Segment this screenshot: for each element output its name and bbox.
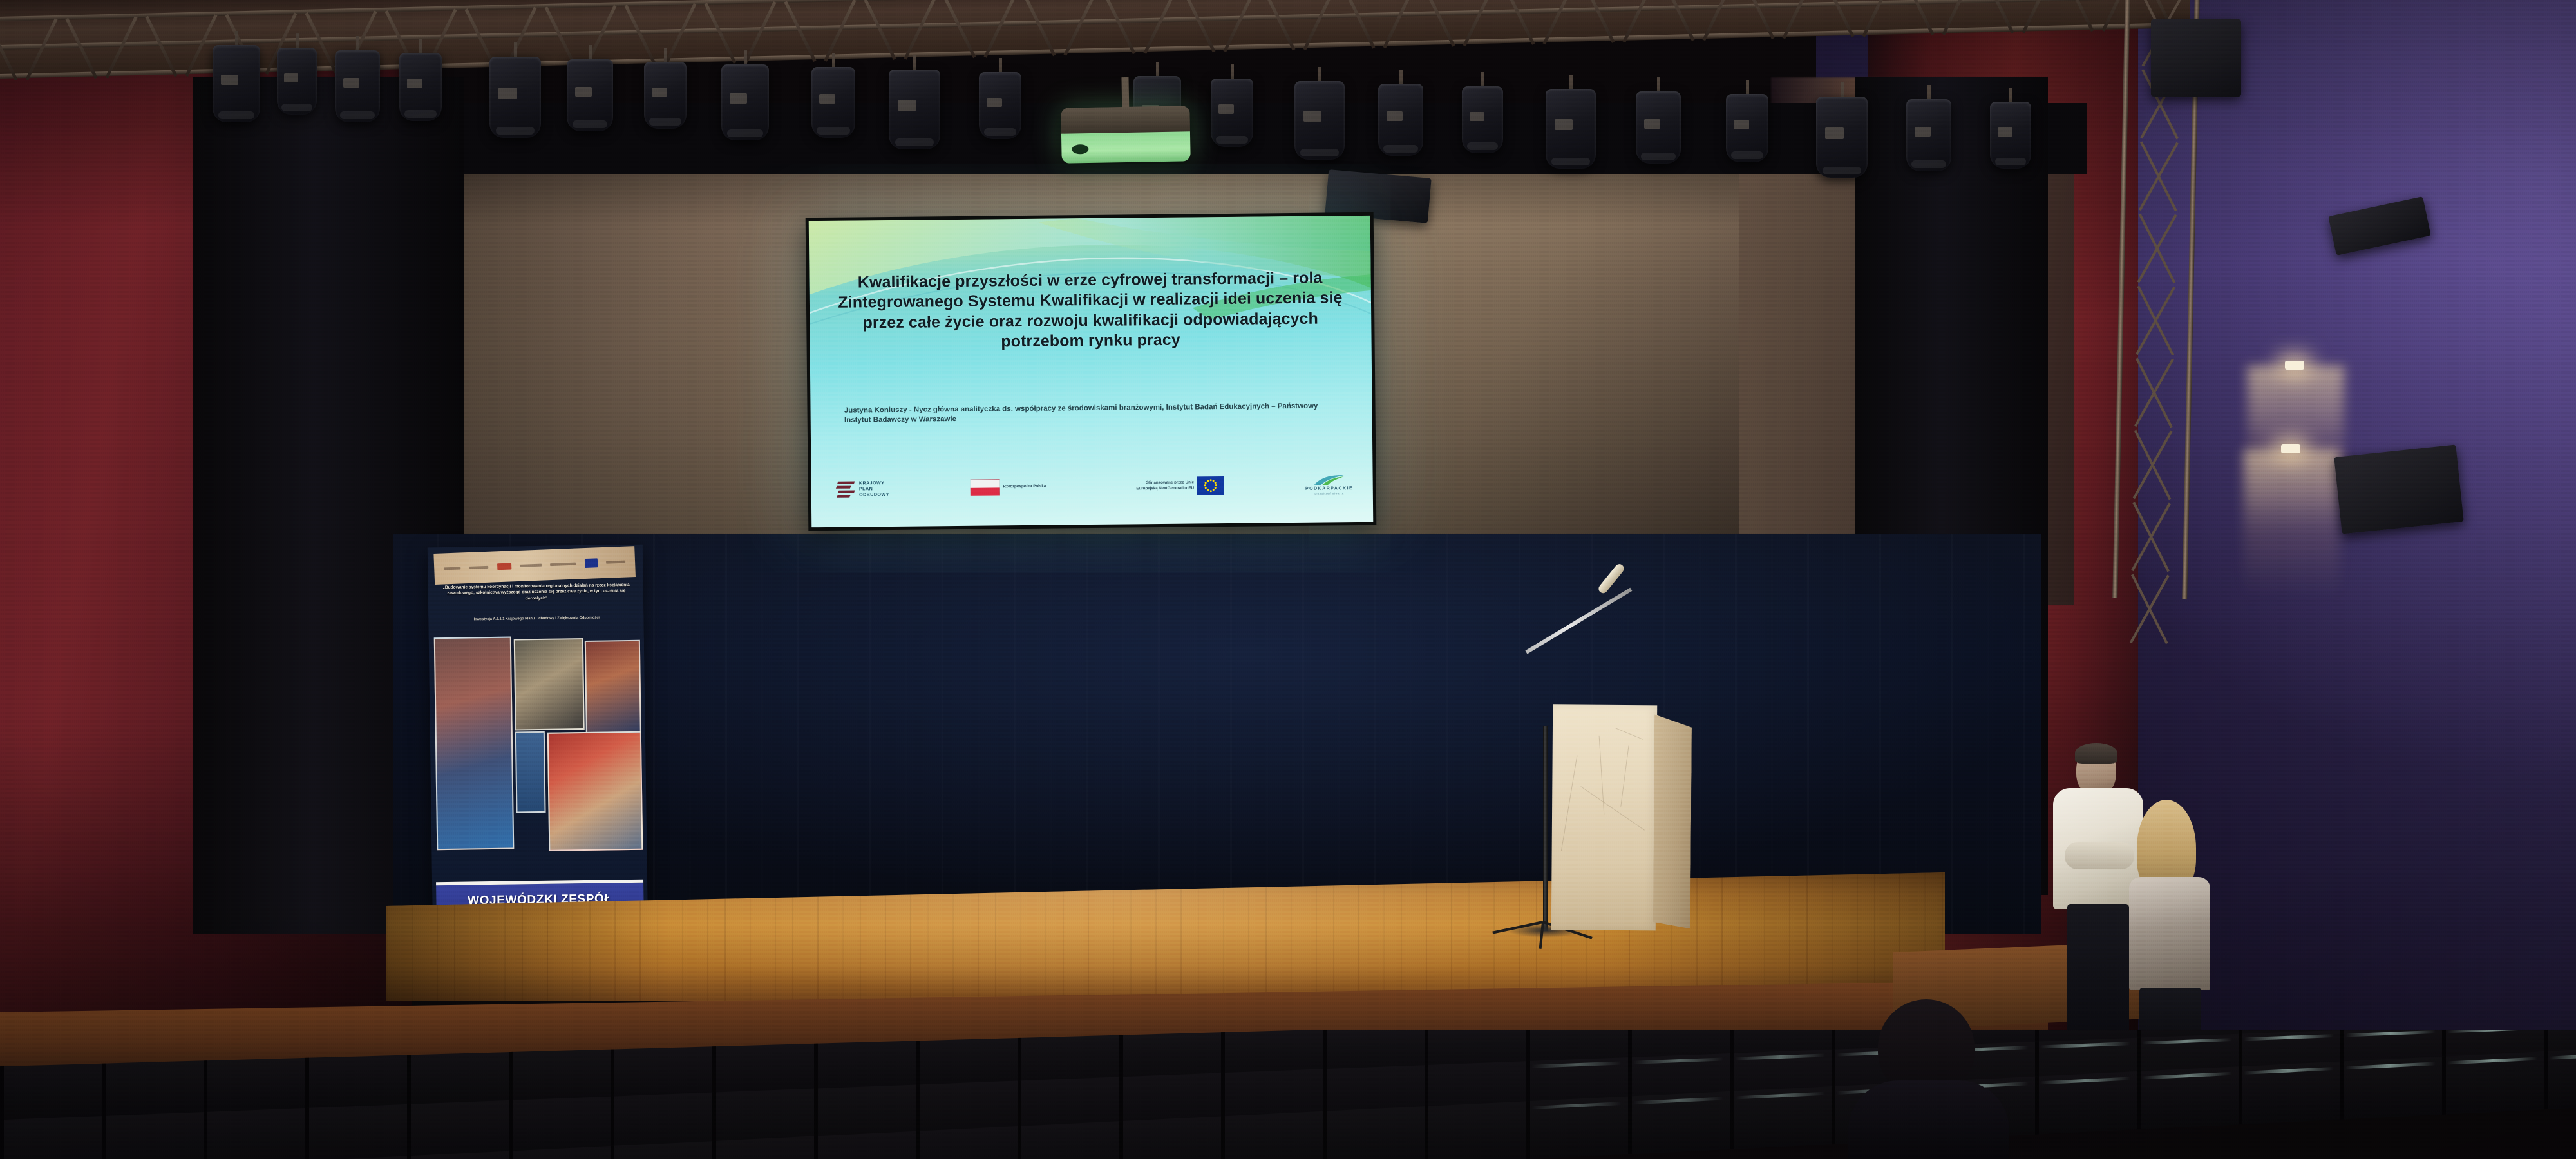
floor-plank [1130, 872, 1132, 1001]
fixture-label-tag [1915, 127, 1931, 137]
fixture-label-tag [498, 88, 517, 99]
woman-patterned-top [2129, 877, 2210, 990]
floor-plank [1468, 872, 1470, 1001]
fixture-lens [1641, 153, 1675, 160]
fixture-body [1906, 99, 1951, 171]
rollup-banner: „Budowanie systemu koordynacji i monitor… [428, 545, 648, 939]
fixture-body [567, 59, 613, 131]
fixture-body [1816, 97, 1868, 178]
seat-divider [407, 1104, 411, 1159]
fixture-label-tag [1555, 119, 1573, 130]
kpo-icon [837, 480, 856, 498]
seat-divider [1323, 1111, 1327, 1159]
curtain-fold [1843, 534, 1845, 934]
fixture-lens [573, 120, 608, 128]
lectern-podium [1551, 704, 1691, 930]
fixture-label-tag [284, 73, 298, 83]
fixture-label-tag [819, 94, 835, 104]
eu-star [1210, 490, 1212, 492]
floor-plank [1789, 872, 1790, 1001]
rp-label: Rzeczpospolita Polska [1003, 484, 1046, 491]
floor-plank [1088, 872, 1089, 1001]
stage-light-fixture [1462, 72, 1503, 156]
auditorium-stage-scene: Kwalifikacje przyszłości w erze cyfrowej… [0, 0, 2576, 1159]
fixture-lens [281, 104, 312, 111]
seat-divider [1425, 1106, 1428, 1159]
rollup-investment-line: Inwestycja A.3.1.1 Krajowego Planu Odbud… [437, 616, 636, 623]
floor-plank [1316, 872, 1317, 1001]
fixture-label-tag [730, 93, 747, 104]
seat-divider [509, 1151, 513, 1159]
seat-back-highlight [2244, 1034, 2334, 1041]
fixture-label-tag [221, 75, 238, 86]
rollup-quote: „Budowanie systemu koordynacji i monitor… [437, 582, 636, 603]
fixture-lens [404, 110, 437, 118]
eu-star [1207, 489, 1209, 491]
man-crossed-arms [2065, 842, 2134, 869]
floor-plank [1358, 872, 1359, 1001]
fixture-body [1990, 102, 2031, 169]
stage-light-fixture [1294, 67, 1345, 162]
stage-light-fixture [644, 48, 687, 131]
seat-back-highlight [2142, 1072, 2232, 1080]
fixture-lens [984, 128, 1016, 136]
seat-divider [305, 1058, 309, 1112]
ceiling-projector [1061, 106, 1190, 163]
curtain-fold [1987, 534, 1989, 934]
projector-body [1061, 106, 1190, 133]
curtain-fold [761, 534, 763, 934]
fixture-label-tag [1387, 111, 1403, 122]
stage-light-fixture [1726, 80, 1768, 165]
fixture-body [644, 62, 687, 129]
seat-divider [509, 1100, 513, 1159]
floor-plank [1333, 872, 1334, 1001]
eu-flag-icon [1197, 476, 1224, 495]
seat-divider [407, 1055, 411, 1109]
seat-back-highlight [2345, 1062, 2436, 1069]
seat-divider [712, 1141, 716, 1159]
curtain-fold [1771, 534, 1773, 934]
curtain-fold [1230, 534, 1232, 934]
fixture-body [979, 72, 1021, 139]
curtain-fold [1050, 534, 1052, 934]
floor-plank [1806, 872, 1808, 1001]
mic-pole [1543, 726, 1548, 931]
seat-divider [1018, 1126, 1021, 1159]
seat-back-highlight [1531, 1102, 1622, 1109]
fixture-label-tag [407, 79, 422, 88]
projector-mount [1121, 77, 1129, 109]
seat-divider [1730, 1091, 1734, 1149]
floor-plank [1874, 872, 1875, 1001]
seat-back-highlight [2142, 1038, 2232, 1044]
seat-back-highlight [1531, 1061, 1622, 1068]
fixture-body [213, 45, 260, 122]
logo-podkarpackie: PODKARPACKIE przestrzeń otwarta [1305, 474, 1354, 495]
fixture-body [721, 64, 769, 140]
floor-plank [1180, 872, 1182, 1001]
eu-star [1213, 489, 1215, 491]
slide-subtitle: Justyna Koniuszy - Nycz główna analitycz… [844, 401, 1344, 426]
floor-plank [1739, 872, 1740, 1001]
logo-rzeczpospolita-polska: Rzeczpospolita Polska [970, 478, 1046, 496]
rollup-logo-strip [433, 546, 636, 585]
eu-star [1205, 487, 1207, 489]
fixture-body [1211, 79, 1253, 147]
floor-plank [1198, 872, 1199, 1001]
curtain-fold [1699, 534, 1701, 934]
seat-divider [2137, 1071, 2141, 1129]
fixture-body [811, 67, 855, 138]
lectern-side-panel [1653, 714, 1692, 928]
fixture-label-tag [987, 98, 1002, 108]
curtain-fold [1086, 534, 1088, 934]
curtain-fold [689, 534, 691, 934]
fixture-lens [1383, 145, 1417, 153]
fixture-lens [1995, 158, 2027, 165]
seat-divider [2442, 1057, 2446, 1115]
curtain-fold [1338, 534, 1340, 934]
wall-speaker-lower [2334, 444, 2464, 534]
fixture-label-tag [1998, 127, 2012, 137]
curtain-fold [797, 534, 799, 934]
seat-back-highlight [2040, 1077, 2130, 1085]
fixture-lens [1300, 149, 1338, 156]
stage-light-fixture [1636, 77, 1681, 166]
polish-flag-icon [970, 479, 999, 496]
fixture-lens [496, 127, 535, 135]
slide-logo-strip: KRAJOWY PLAN ODBUDOWY Rzeczpospolita Pol… [837, 464, 1354, 509]
stage-light-fixture [277, 33, 317, 117]
seat-divider [0, 1066, 4, 1120]
fixture-body [1378, 84, 1423, 156]
projector-lens [1072, 144, 1088, 154]
stage-light-fixture [721, 50, 769, 143]
fixture-lens [649, 118, 681, 126]
seat-divider [611, 1146, 614, 1159]
stage-light-fixture [1990, 88, 2031, 171]
seat-divider [102, 1064, 106, 1118]
eu-star [1215, 482, 1217, 484]
seat-divider [509, 1052, 513, 1106]
seat-divider [407, 1156, 411, 1159]
fixture-label-tag [575, 87, 592, 97]
eu-star [1215, 487, 1217, 489]
fixture-label-tag [343, 78, 359, 88]
seat-divider [204, 1112, 207, 1159]
seat-back-highlight [2549, 1052, 2576, 1060]
fixture-body [399, 53, 442, 121]
fixture-body [489, 57, 541, 138]
curtain-fold [1302, 534, 1304, 934]
stage-light-fixture [489, 42, 541, 140]
seat-back-highlight [2244, 1067, 2334, 1075]
slide-title: Kwalifikacje przyszłości w erze cyfrowej… [837, 268, 1343, 354]
eu-star [1207, 480, 1209, 482]
logo-krajowy-plan-odbudowy: KRAJOWY PLAN ODBUDOWY [837, 480, 889, 498]
curtain-fold [1807, 534, 1809, 934]
seat-back-highlight [1633, 1097, 1723, 1104]
curtain-fold [401, 534, 402, 934]
audience-member [1848, 999, 2009, 1159]
seat-back-highlight [2447, 1030, 2537, 1033]
seat-divider [2035, 1076, 2039, 1134]
floor-plank [1248, 872, 1249, 1001]
stage-light-fixture [1378, 70, 1423, 158]
curtain-fold [1735, 534, 1737, 934]
rollup-photo-collage [431, 628, 645, 858]
lectern-front-panel [1551, 704, 1657, 930]
seat-back-highlight [2345, 1030, 2436, 1037]
curtain-fold [1879, 534, 1881, 934]
curtain-fold [1194, 534, 1196, 934]
floor-plank [1857, 872, 1858, 1001]
floor-plank [1721, 872, 1723, 1001]
podkarpackie-icon [1314, 474, 1345, 485]
stage-light-fixture [213, 31, 260, 125]
floor-plank [1832, 872, 1833, 1001]
fixture-body [1726, 94, 1768, 162]
fixture-lens [340, 111, 374, 119]
fixture-label-tag [652, 88, 667, 97]
fixture-lens [218, 111, 254, 119]
curtain-fold [1374, 534, 1376, 934]
fixture-label-tag [1303, 111, 1321, 122]
fixture-body [277, 48, 317, 115]
stage-light-fixture [811, 53, 855, 140]
curtain-fold [942, 534, 943, 934]
floor-plank [1451, 872, 1452, 1001]
curtain-fold [653, 534, 655, 934]
seat-divider [814, 1136, 818, 1159]
seat-divider [1628, 1096, 1632, 1154]
stage-light-fixture [1816, 82, 1868, 180]
presentation-slide: Kwalifikacje przyszłości w erze cyfrowej… [809, 216, 1374, 527]
floor-plank [1291, 872, 1292, 1001]
fixture-label-tag [898, 100, 916, 111]
fixture-lens [1731, 151, 1763, 159]
curtain-fold [905, 534, 907, 934]
curtain-fold [1158, 534, 1160, 934]
seat-divider [1832, 1086, 1835, 1144]
seat-divider [102, 1116, 106, 1159]
seat-back-highlight [1633, 1057, 1723, 1064]
fixture-lens [1911, 160, 1946, 168]
stage-light-fixture [1546, 75, 1596, 171]
fixture-lens [1551, 158, 1589, 165]
stage-light-fixture [1211, 64, 1253, 149]
curtain-fold [1446, 534, 1448, 934]
stage-light-fixture [889, 55, 940, 152]
fixture-lens [895, 138, 934, 146]
seat-divider [2340, 1061, 2344, 1119]
curtain-fold [833, 534, 835, 934]
podkarpackie-tagline: przestrzeń otwarta [1314, 491, 1343, 495]
floor-plank [1113, 872, 1114, 1001]
fixture-label-tag [1644, 119, 1660, 129]
floor-plank [1401, 872, 1402, 1001]
seat-back-highlight [2447, 1057, 2537, 1065]
man-hair [2075, 743, 2117, 764]
fixture-lens [1467, 142, 1499, 150]
eu-star [1205, 482, 1207, 484]
eu-star [1213, 480, 1215, 482]
fixture-label-tag [1470, 112, 1484, 122]
wall-speaker-top-right [2151, 19, 2241, 97]
seat-divider [916, 1131, 920, 1159]
curtain-fold [869, 534, 871, 934]
curtain-fold [1410, 534, 1412, 934]
fixture-body [1294, 81, 1345, 160]
seat-divider [305, 1108, 309, 1159]
seat-divider [1119, 1121, 1123, 1159]
fixture-body [1636, 91, 1681, 164]
curtain-fold [1482, 534, 1484, 934]
fixture-body [1462, 86, 1503, 153]
curtain-fold [1122, 534, 1124, 934]
projection-screen: Kwalifikacje przyszłości w erze cyfrowej… [806, 212, 1377, 531]
seat-divider [2239, 1066, 2242, 1124]
kpo-label: KRAJOWY PLAN ODBUDOWY [859, 480, 889, 498]
eu-star [1215, 484, 1217, 486]
fixture-label-tag [1825, 127, 1844, 139]
seat-divider [1526, 1101, 1530, 1159]
podkarpackie-label: PODKARPACKIE [1305, 486, 1353, 491]
stage-light-fixture [399, 39, 442, 124]
man-trousers [2067, 904, 2129, 1042]
floor-plank [1265, 872, 1267, 1001]
floor-plank [1223, 872, 1224, 1001]
curtain-fold [978, 534, 980, 934]
eu-label: Sfinansowane przez Unię Europejską NextG… [1127, 480, 1194, 492]
stage-light-fixture [567, 45, 613, 134]
fixture-lens [817, 127, 850, 135]
seat-back-highlight [2040, 1042, 2130, 1048]
standing-woman [2125, 800, 2215, 1051]
stage-light-fixture [1906, 85, 1951, 174]
stage-light-fixture [979, 58, 1021, 142]
seat-divider [2544, 1051, 2548, 1109]
curtain-fold [725, 534, 727, 934]
floor-plank [1383, 872, 1385, 1001]
fixture-body [335, 50, 380, 122]
eu-star [1209, 479, 1211, 481]
fixture-lens [1216, 136, 1248, 144]
floor-plank [1426, 872, 1427, 1001]
curtain-fold [1014, 534, 1016, 934]
floor-plank [1155, 872, 1157, 1001]
stage-light-fixture [335, 36, 380, 125]
floor-plank [1696, 872, 1698, 1001]
logo-unia-europejska: Sfinansowane przez Unię Europejską NextG… [1127, 476, 1224, 495]
seat-divider [1221, 1116, 1225, 1159]
fixture-body [1546, 89, 1596, 169]
fixture-label-tag [1218, 104, 1234, 114]
fixture-lens [1823, 167, 1862, 174]
fixture-body [889, 70, 940, 149]
floor-plank [1063, 872, 1064, 1001]
eu-star [1204, 484, 1206, 486]
seat-divider [611, 1049, 614, 1103]
audience-seating-area [0, 1030, 2576, 1159]
fixture-lens [727, 129, 763, 137]
seat-divider [204, 1060, 207, 1115]
seat-back-highlight [1735, 1092, 1825, 1100]
seat-back-highlight [1735, 1053, 1825, 1060]
curtain-fold [2023, 534, 2025, 934]
curtain-fold [1266, 534, 1268, 934]
curtain-fold [1951, 534, 1953, 934]
seat-divider [0, 1120, 4, 1159]
fixture-label-tag [1734, 120, 1749, 129]
floor-plank [1764, 872, 1765, 1001]
